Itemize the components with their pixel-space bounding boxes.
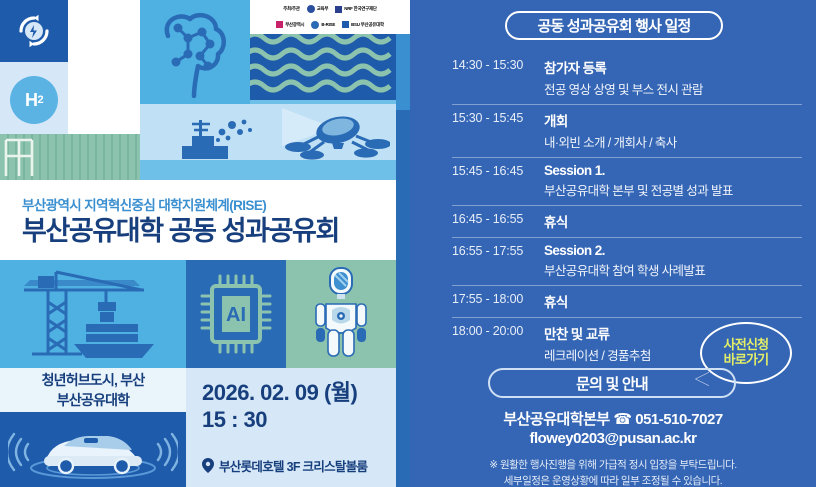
hydrogen-subscript: 2	[37, 94, 43, 106]
schedule-row: 16:55 - 17:55 Session 2. 부산공유대학 참여 학생 사례…	[452, 238, 802, 286]
schedule-row: 17:55 - 18:00 휴식	[452, 286, 802, 318]
youth-hub-line2: 부산공유대학	[57, 390, 129, 410]
event-datetime-box: 2026. 02. 09 (월) 15 : 30 부산롯데호텔 3F 크리스탈볼…	[186, 368, 396, 487]
hydrogen-tile: H2	[0, 62, 68, 134]
notice-line2: 세부일정은 운영상황에 따라 일부 조정될 수 있습니다.	[410, 474, 816, 487]
contact-email[interactable]: flowey0203@pusan.ac.kr	[410, 429, 816, 448]
poster-right-panel: 공동 성과공유회 행사 일정 14:30 - 15:30 참가자 등록 전공 영…	[410, 0, 816, 487]
contact-header-pill: 문의 및 안내	[488, 368, 736, 398]
logo-bsu: BSU 부산공유대학	[342, 21, 384, 28]
schedule-time: 15:45 - 16:45	[452, 163, 544, 199]
youth-hub-line1: 청년허브도시, 부산	[42, 370, 145, 390]
robot-tile	[286, 260, 396, 368]
schedule-desc: 내·외빈 소개 / 개회사 / 축사	[544, 132, 802, 151]
battery-tile	[68, 0, 140, 134]
contact-organization: 부산공유대학본부 ☎ 051-510-7027	[410, 410, 816, 429]
recycle-energy-icon	[13, 10, 55, 52]
event-date: 2026. 02. 09 (월)	[202, 380, 396, 407]
schedule-time: 18:00 - 20:00	[452, 323, 544, 364]
ai-chip-label: AI	[226, 304, 246, 326]
ai-brain-tile	[140, 0, 250, 104]
notice-block: ※ 원활한 행사진행을 위해 가급적 정시 입장을 부탁드립니다. 세부일정은 …	[410, 458, 816, 487]
event-venue: 부산롯데호텔 3F 크리스탈볼룸	[219, 456, 367, 475]
contact-info-block: 부산공유대학본부 ☎ 051-510-7027 flowey0203@pusan…	[410, 410, 816, 487]
youth-hub-band: 청년허브도시, 부산 부산공유대학	[0, 368, 186, 412]
schedule-time: 14:30 - 15:30	[452, 57, 544, 98]
poster-title: 부산공유대학 공동 성과공유회	[22, 217, 396, 245]
schedule-title: Session 2.	[544, 243, 802, 258]
logo-moe: 교육부	[307, 5, 329, 13]
ship-water-strip	[140, 160, 396, 180]
schedule-title: 휴식	[544, 291, 802, 311]
map-pin-icon	[202, 458, 214, 473]
event-venue-row: 부산롯데호텔 3F 크리스탈볼룸	[202, 456, 396, 475]
preregister-line1: 사전신청	[724, 338, 769, 353]
shipping-container-tile	[0, 134, 140, 180]
schedule-desc: 부산공유대학 참여 학생 사례발표	[544, 260, 802, 279]
logo-brise: B-RISE	[311, 21, 335, 29]
ai-chip-tile: AI	[186, 260, 286, 368]
schedule-header-pill: 공동 성과공유회 행사 일정	[505, 11, 723, 40]
notice-line1: ※ 원활한 행사진행을 위해 가급적 정시 입장을 부탁드립니다.	[410, 458, 816, 473]
hydrogen-symbol: H	[25, 90, 38, 111]
event-time: 15 : 30	[202, 407, 396, 434]
sponsor-logo-strip: 주최/주관 교육부 NRF 한국연구재단 부산광역시	[250, 0, 410, 34]
port-crane-tile	[0, 260, 186, 368]
logo-busan-city: 부산광역시	[276, 21, 304, 28]
schedule-time: 16:45 - 16:55	[452, 211, 544, 231]
schedule-time: 15:30 - 15:45	[452, 110, 544, 151]
ai-chip-icon: AI	[200, 272, 272, 356]
poster-title-band: 부산광역시 지역혁신중심 대학지원체계(RISE) 부산공유대학 공동 성과공유…	[0, 180, 396, 260]
schedule-time: 17:55 - 18:00	[452, 291, 544, 311]
schedule-row: 14:30 - 15:30 참가자 등록 전공 영상 상영 및 부스 전시 관람	[452, 52, 802, 105]
preregister-line2: 바로가기	[724, 353, 769, 368]
schedule-time: 16:55 - 17:55	[452, 243, 544, 279]
autonomous-car-icon	[8, 418, 178, 482]
port-crane-ship-icon	[14, 268, 164, 360]
schedule-desc: 부산공유대학 본부 및 전공별 성과 발표	[544, 180, 802, 199]
humanoid-robot-icon	[312, 266, 370, 362]
schedule-desc: 전공 영상 상영 및 부스 전시 관람	[544, 79, 802, 98]
schedule-title: Session 1.	[544, 163, 802, 178]
logo-row-top: 주최/주관 교육부 NRF 한국연구재단	[254, 2, 406, 17]
schedule-row: 15:30 - 15:45 개회 내·외빈 소개 / 개회사 / 축사	[452, 105, 802, 158]
recycle-energy-tile	[0, 0, 68, 62]
event-poster: H2	[0, 0, 816, 487]
right-edge-strip	[396, 110, 410, 487]
schedule-row: 15:45 - 16:45 Session 1. 부산공유대학 본부 및 전공별…	[452, 158, 802, 206]
smart-car-tile	[0, 412, 186, 487]
schedule-title: 휴식	[544, 211, 802, 231]
schedule-title: 개회	[544, 110, 802, 130]
poster-subtitle: 부산광역시 지역혁신중심 대학지원체계(RISE)	[22, 194, 396, 214]
logo-row-bottom: 부산광역시 B-RISE BSU 부산공유대학	[254, 18, 406, 33]
schedule-title: 참가자 등록	[544, 57, 802, 77]
logo-host-label: 주최/주관	[283, 6, 299, 12]
poster-left-panel: H2	[0, 0, 410, 487]
logo-nrf: NRF 한국연구재단	[335, 6, 376, 13]
brain-network-icon	[148, 6, 242, 98]
container-stack-icon	[0, 134, 140, 180]
schedule-row: 16:45 - 16:55 휴식	[452, 206, 802, 238]
hydrogen-badge: H2	[10, 76, 58, 124]
